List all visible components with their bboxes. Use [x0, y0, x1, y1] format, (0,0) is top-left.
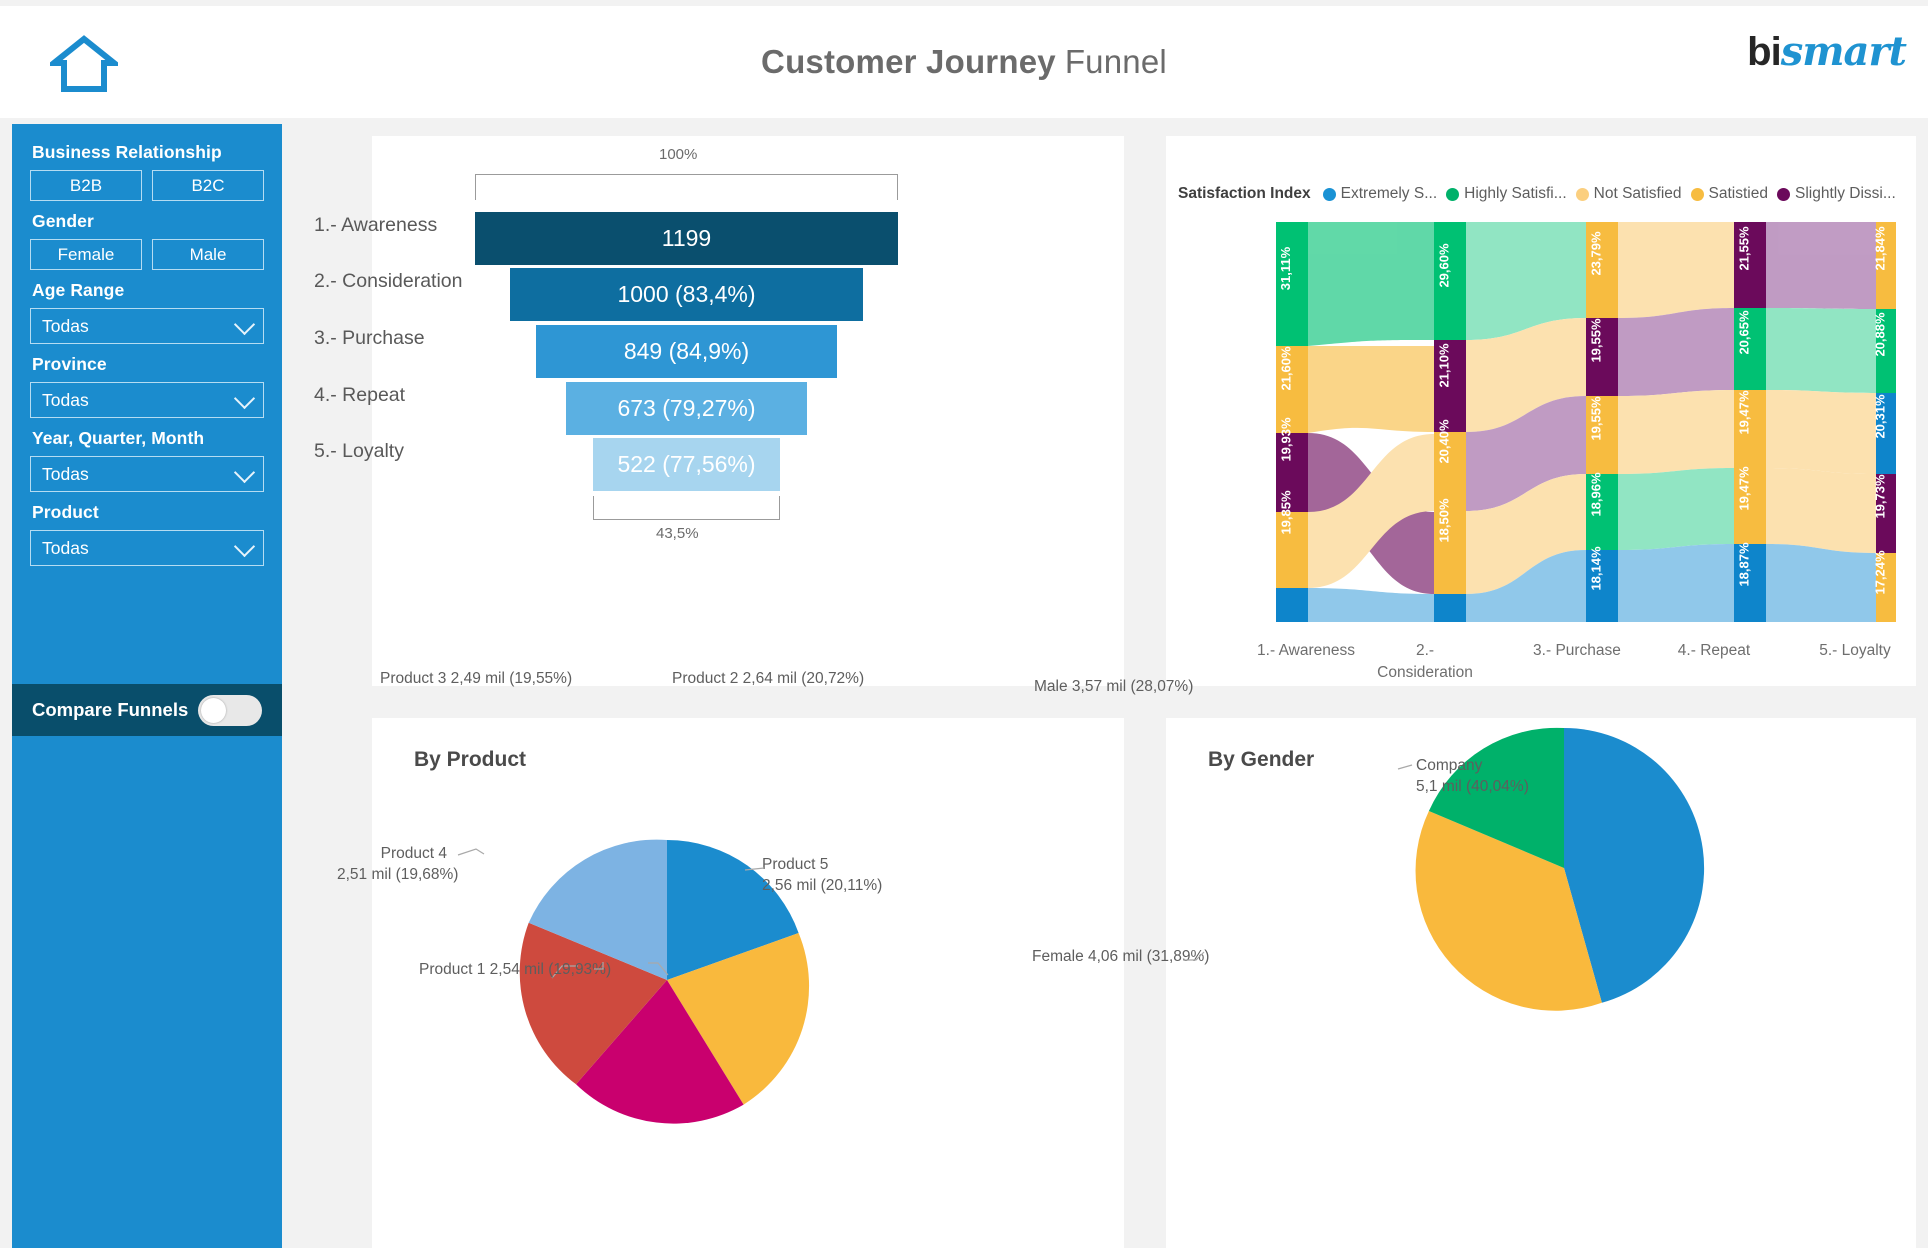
chevron-down-icon [234, 314, 255, 335]
brand-bi: bi [1747, 30, 1781, 74]
sankey-legend-title: Satisfaction Index [1178, 185, 1311, 203]
pie-label-company-l2: 5,1 mil (40,04%) [1416, 776, 1529, 797]
pie-label-female: Female 4,06 mil (31,89%) [1032, 946, 1209, 967]
sankey-node-pct-c1-n3: 19,93% [1264, 419, 1308, 459]
funnel-top-pct: 100% [659, 146, 697, 163]
filter-select-year-quarter-month-value: Todas [42, 464, 89, 485]
filter-label-product: Product [32, 502, 264, 523]
bottom-brace-right-tick [779, 496, 780, 520]
pie-label-company: Company 5,1 mil (40,04%) [1416, 755, 1529, 797]
sankey-node-pct-c1-n4: 19,85% [1264, 492, 1308, 532]
by-product-title: By Product [414, 748, 526, 772]
dashboard-page: Customer Journey Funnel bismart Business… [0, 0, 1928, 1248]
page-title-bold: Customer Journey [761, 43, 1056, 81]
by-product-pie-chart[interactable] [467, 780, 867, 1180]
app-header: Customer Journey Funnel bismart [0, 6, 1928, 118]
pie-label-product-4: Product 4 2,51 mil (19,68%) [337, 843, 447, 885]
legend-dot-extremely-satisfied [1323, 188, 1336, 201]
filter-label-year-quarter-month: Year, Quarter, Month [32, 428, 264, 449]
sankey-node-pct-c2-n1: 29,60% [1422, 245, 1466, 285]
sankey-node-pct-c5-n5: 17,24% [1858, 552, 1902, 592]
filter-select-age-range[interactable]: Todas [30, 308, 264, 344]
bottom-brace-line [593, 519, 780, 520]
by-gender-pie-chart[interactable] [1364, 668, 1764, 1068]
sankey-legend: Satisfaction Index Extremely S... Highly… [1178, 182, 1918, 206]
funnel-bar-awareness[interactable]: 1199 [475, 212, 898, 265]
pie-label-product-5-l2: 2,56 mil (20,11%) [762, 875, 882, 896]
legend-dot-slightly-dissatisfied [1777, 188, 1790, 201]
sankey-node-pct-c3-n3: 19,55% [1574, 398, 1618, 438]
sankey-node-pct-c2-n4: 18,50% [1422, 500, 1466, 540]
funnel-bar-repeat[interactable]: 673 (79,27%) [566, 382, 807, 435]
funnel-label-loyalty: 5.- Loyalty [314, 440, 474, 463]
filter-button-b2b[interactable]: B2B [30, 170, 142, 201]
funnel-bar-purchase[interactable]: 849 (84,9%) [536, 325, 837, 378]
filter-select-product[interactable]: Todas [30, 530, 264, 566]
page-title-light: Funnel [1065, 43, 1167, 81]
top-brace-line [475, 174, 898, 175]
top-brace-right-tick [897, 174, 898, 200]
by-product-card: By Product [372, 718, 1124, 1248]
sankey-node-pct-c4-n4: 19,47% [1722, 468, 1766, 508]
funnel-chart-card: 100% 1.- Awareness 1199 2.- Consideratio… [372, 136, 1124, 686]
legend-dot-not-satisfied [1576, 188, 1589, 201]
sankey-node-pct-c4-n5: 18,87% [1722, 544, 1766, 584]
legend-item-highly-satisfied[interactable]: Highly Satisfi... [1446, 185, 1567, 203]
sankey-axis-repeat: 4.- Repeat [1654, 640, 1774, 662]
legend-label-satistied: Satistied [1709, 185, 1768, 203]
sankey-node-pct-c5-n2: 20,88% [1858, 314, 1902, 354]
by-gender-title: By Gender [1208, 748, 1314, 772]
pie-label-product-5-l1: Product 5 [762, 854, 882, 875]
sankey-node-pct-c3-n2: 19,55% [1574, 320, 1618, 360]
sankey-node-pct-c3-n1: 23,79% [1574, 233, 1618, 273]
funnel-bar-consideration[interactable]: 1000 (83,4%) [510, 268, 863, 321]
filter-select-province[interactable]: Todas [30, 382, 264, 418]
filter-button-b2c[interactable]: B2C [152, 170, 264, 201]
filter-business-relationship: B2B B2C [30, 170, 264, 201]
sankey-node-pct-c4-n3: 19,47% [1722, 392, 1766, 432]
pie-label-product-3: Product 3 2,49 mil (19,55%) [380, 668, 572, 689]
filter-label-province: Province [32, 354, 264, 375]
sankey-node-pct-c1-n2: 21,60% [1264, 348, 1308, 388]
sankey-axis-purchase: 3.- Purchase [1512, 640, 1642, 662]
chevron-down-icon [234, 462, 255, 483]
filter-button-male[interactable]: Male [152, 239, 264, 270]
legend-dot-highly-satisfied [1446, 188, 1459, 201]
sankey-node-pct-c2-n3: 20,40% [1422, 421, 1466, 461]
funnel-bar-loyalty[interactable]: 522 (77,56%) [593, 438, 780, 491]
filter-select-province-value: Todas [42, 390, 89, 411]
legend-item-satistied[interactable]: Satistied [1691, 185, 1768, 203]
sankey-node-pct-c4-n1: 21,55% [1722, 228, 1766, 268]
top-brace-left-tick [475, 174, 476, 200]
legend-item-extremely-satisfied[interactable]: Extremely S... [1323, 185, 1437, 203]
filter-gender: Female Male [30, 239, 264, 270]
sankey-node-pct-c3-n5: 18,14% [1574, 548, 1618, 588]
legend-label-not-satisfied: Not Satisfied [1594, 185, 1682, 203]
compare-funnels-label: Compare Funnels [32, 699, 188, 721]
pie-label-product-5: Product 5 2,56 mil (20,11%) [762, 854, 882, 896]
pie-label-company-l1: Company [1416, 755, 1529, 776]
filter-select-year-quarter-month[interactable]: Todas [30, 456, 264, 492]
compare-funnels-toggle[interactable] [198, 695, 262, 726]
pie-label-male: Male 3,57 mil (28,07%) [1034, 676, 1193, 697]
filter-label-business-relationship: Business Relationship [32, 142, 264, 163]
sankey-node-pct-c5-n3: 20,31% [1858, 396, 1902, 436]
compare-funnels-bar: Compare Funnels [12, 684, 282, 736]
filter-select-age-range-value: Todas [42, 316, 89, 337]
pie-label-product-4-l1: Product 4 [337, 843, 447, 864]
legend-item-slightly-dissatisfied[interactable]: Slightly Dissi... [1777, 185, 1896, 203]
bismart-logo: bismart [1747, 28, 1906, 76]
filter-label-gender: Gender [32, 211, 264, 232]
funnel-label-repeat: 4.- Repeat [314, 384, 474, 407]
pie-label-product-1: Product 1 2,54 mil (19,93%) [419, 959, 611, 980]
filter-button-female[interactable]: Female [30, 239, 142, 270]
page-title: Customer Journey Funnel [0, 6, 1928, 118]
chevron-down-icon [234, 388, 255, 409]
sankey-axis-awareness: 1.- Awareness [1236, 640, 1376, 662]
sankey-node-pct-c5-n4: 19,73% [1858, 476, 1902, 516]
brand-smart: smart [1781, 28, 1906, 75]
by-gender-card: By Gender [1166, 718, 1916, 1248]
sankey-axis-loyalty: 5.- Loyalty [1790, 640, 1920, 662]
legend-item-not-satisfied[interactable]: Not Satisfied [1576, 185, 1682, 203]
chevron-down-icon [234, 536, 255, 557]
sankey-node-pct-c1-n1: 31,11% [1264, 248, 1308, 288]
filter-label-age-range: Age Range [32, 280, 264, 301]
toggle-knob [201, 698, 226, 723]
legend-label-highly-satisfied: Highly Satisfi... [1464, 185, 1567, 203]
funnel-label-awareness: 1.- Awareness [314, 214, 474, 237]
sankey-node-pct-c5-n1: 21,84% [1858, 228, 1902, 268]
pie-label-product-4-l2: 2,51 mil (19,68%) [337, 864, 447, 885]
legend-label-slightly-dissatisfied: Slightly Dissi... [1795, 185, 1896, 203]
sankey-node-pct-c2-n2: 21,10% [1422, 345, 1466, 385]
legend-label-extremely-satisfied: Extremely S... [1341, 185, 1437, 203]
legend-dot-satistied [1691, 188, 1704, 201]
bottom-brace-left-tick [593, 496, 594, 520]
funnel-label-purchase: 3.- Purchase [314, 327, 474, 350]
funnel-bottom-pct: 43,5% [656, 525, 699, 542]
funnel-label-consideration: 2.- Consideration [314, 270, 494, 293]
pie-label-product-2: Product 2 2,64 mil (20,72%) [672, 668, 864, 689]
sankey-node-pct-c4-n2: 20,65% [1722, 312, 1766, 352]
filter-select-product-value: Todas [42, 538, 89, 559]
sankey-node-pct-c3-n4: 18,96% [1574, 474, 1618, 514]
